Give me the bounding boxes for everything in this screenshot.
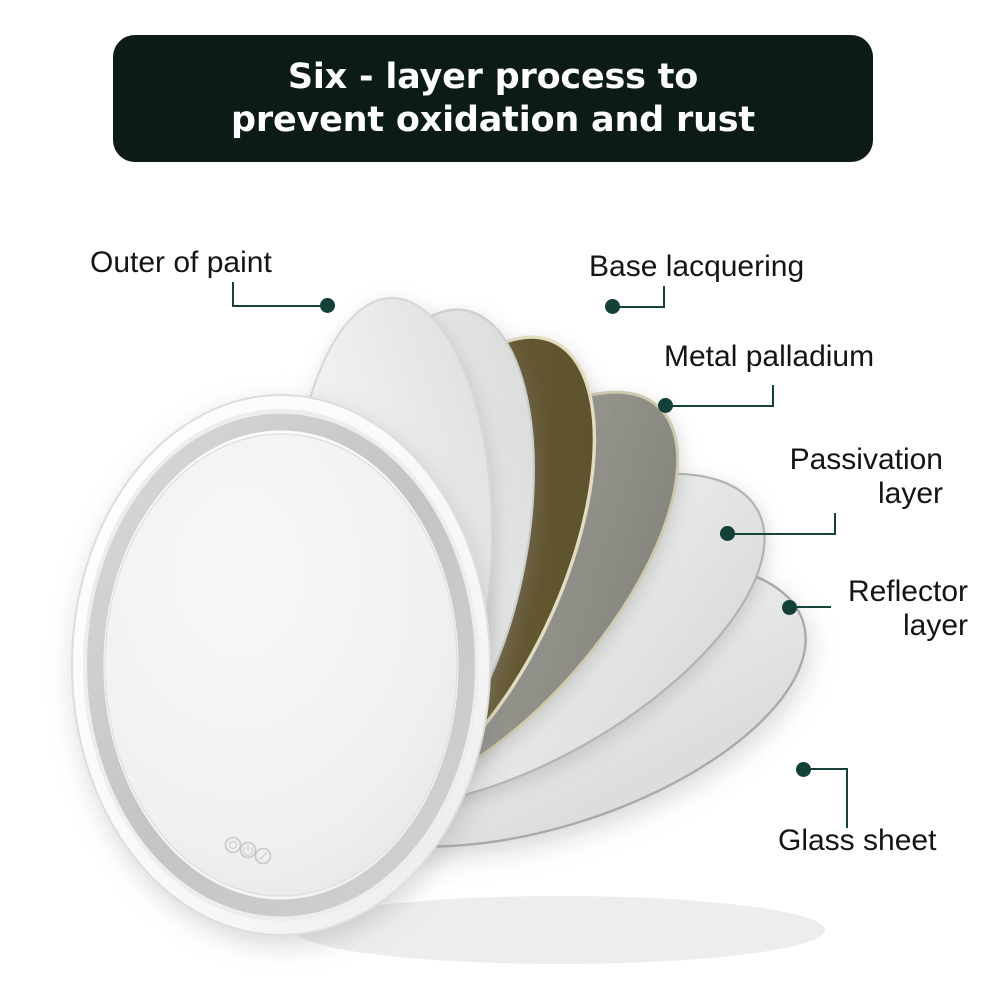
label-base-lacquering: Base lacquering	[589, 250, 804, 284]
label-metal-palladium: Metal palladium	[664, 340, 874, 374]
label-passivation-layer: Passivation layer	[700, 443, 943, 511]
banner-line-1: Six - layer process to	[288, 56, 698, 99]
mirror-face	[105, 434, 457, 896]
led-mirror	[72, 395, 490, 935]
header-banner: Six - layer process to prevent oxidation…	[113, 35, 873, 162]
diagram-canvas: Outer of paint Base lacquering Metal pal…	[0, 0, 1000, 1000]
banner-line-2: prevent oxidation and rust	[231, 99, 755, 142]
label-outer-of-paint: Outer of paint	[90, 246, 272, 280]
label-reflector-layer: Reflector layer	[725, 575, 968, 643]
label-glass-sheet: Glass sheet	[778, 824, 936, 858]
